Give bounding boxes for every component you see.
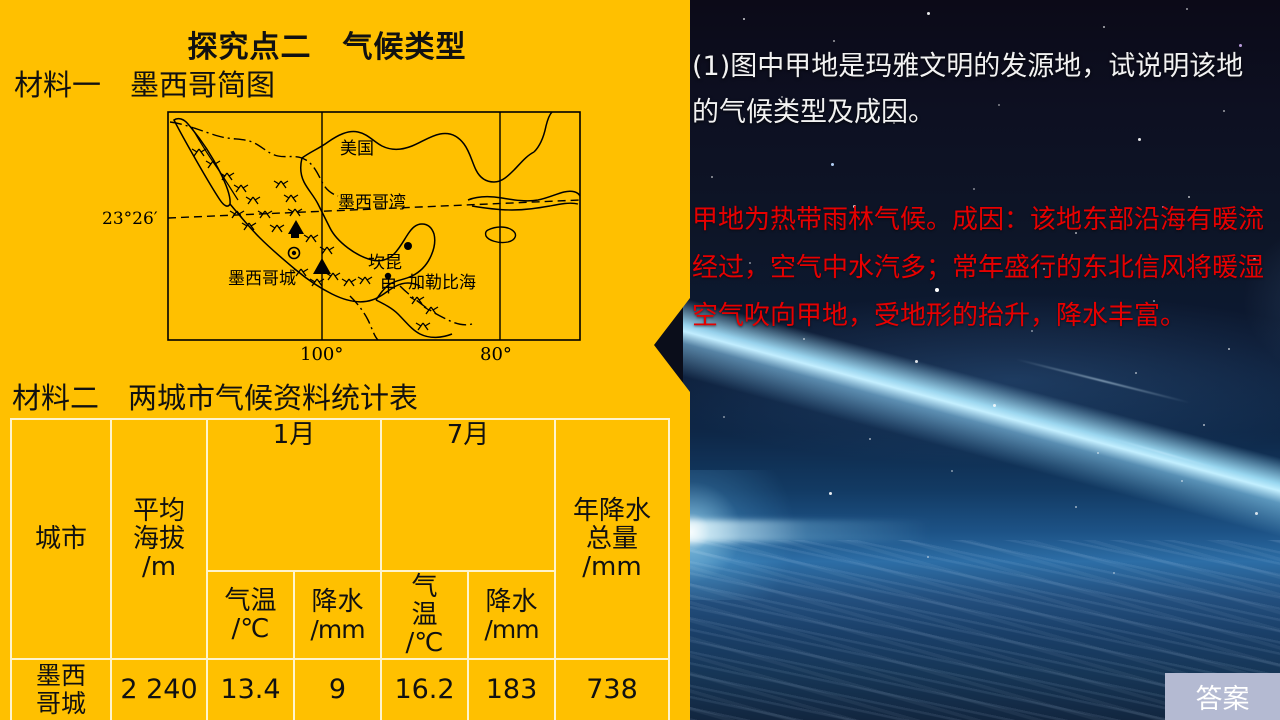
table-row: 墨西 哥城 2 240 13.4 9 16.2 183 738: [11, 659, 669, 720]
page-title: 探究点二 气候类型: [0, 22, 654, 66]
map-label-usa: 美国: [340, 139, 374, 159]
header-annual-precip-l3: /mm: [557, 553, 667, 581]
header-january: 1月: [207, 419, 381, 571]
header-jan-precip-l1: 降水: [296, 588, 379, 616]
header-annual-precip-l2: 总量: [557, 525, 667, 553]
header-jan-temp-l1: 气温: [209, 587, 292, 615]
header-jul-precip: 降水 /mm: [468, 571, 555, 659]
map-label-mexico-city: 墨西哥城: [228, 269, 296, 289]
header-jan-temp: 气温 /℃: [207, 571, 294, 659]
header-annual-precip-l1: 年降水: [557, 497, 667, 525]
header-avg-altitude-l2: 海拔: [113, 525, 205, 553]
header-jul-precip-l2: /mm: [470, 616, 553, 643]
cell-avg-altitude: 2 240: [111, 659, 207, 720]
map-label-jia: 甲: [380, 277, 397, 297]
header-city-label: 城市: [35, 524, 87, 554]
answer-button[interactable]: 答案: [1165, 673, 1280, 720]
header-january-label: 1月: [273, 420, 316, 450]
climate-data-table: 城市 平均 海拔 /m 1月 7月 年降水 总量 /mm: [10, 418, 670, 720]
question-text: (1)图中甲地是玛雅文明的发源地，试说明该地的气候类型及成因。: [692, 44, 1270, 136]
map-label-tropic-of-cancer: 23°26′: [102, 209, 158, 229]
header-annual-precip: 年降水 总量 /mm: [555, 419, 669, 659]
material-two-label: 材料二 两城市气候资料统计表: [12, 375, 418, 417]
header-jul-temp-l3: /℃: [383, 629, 466, 657]
header-july-label: 7月: [447, 420, 490, 450]
map-label-lon-80: 80°: [480, 344, 512, 365]
cell-annual-precip: 738: [555, 659, 669, 720]
header-july: 7月: [381, 419, 555, 571]
map-label-gulf-of-mexico: 墨西哥湾: [338, 193, 406, 213]
header-jul-temp-l2: 温: [383, 601, 466, 629]
answer-text: 甲地为热带雨林气候。成因：该地东部沿海有暖流经过，空气中水汽多；常年盛行的东北信…: [692, 196, 1274, 340]
map-label-caribbean-sea: 加勒比海: [408, 273, 476, 293]
header-jul-temp-l1: 气: [383, 573, 466, 601]
cell-city-l2: 哥城: [13, 690, 109, 718]
slide-root: (1)图中甲地是玛雅文明的发源地，试说明该地的气候类型及成因。 甲地为热带雨林气…: [0, 0, 1280, 720]
cell-city: 墨西 哥城: [11, 659, 111, 720]
header-avg-altitude-l1: 平均: [113, 497, 205, 525]
material-one-label: 材料一 墨西哥简图: [14, 62, 275, 104]
header-avg-altitude: 平均 海拔 /m: [111, 419, 207, 659]
cell-jul-temp: 16.2: [381, 659, 468, 720]
mexico-sketch-map: 美国 墨西哥湾 墨西哥城 坎昆 甲 加勒比海 23°26′ 100° 80°: [100, 108, 600, 366]
header-jul-temp: 气 温 /℃: [381, 571, 468, 659]
header-jul-precip-l1: 降水: [470, 588, 553, 616]
cell-jan-temp: 13.4: [207, 659, 294, 720]
map-label-cancun: 坎昆: [368, 253, 402, 273]
header-city: 城市: [11, 419, 111, 659]
cell-jan-precip: 9: [294, 659, 381, 720]
cell-jul-precip: 183: [468, 659, 555, 720]
header-jan-precip-l2: /mm: [296, 616, 379, 643]
header-jan-precip: 降水 /mm: [294, 571, 381, 659]
table-header-row-1: 城市 平均 海拔 /m 1月 7月 年降水 总量 /mm: [11, 419, 669, 571]
map-label-lon-100: 100°: [300, 344, 343, 365]
header-avg-altitude-l3: /m: [113, 553, 205, 581]
cell-city-l1: 墨西: [13, 662, 109, 690]
header-jan-temp-l2: /℃: [209, 615, 292, 643]
